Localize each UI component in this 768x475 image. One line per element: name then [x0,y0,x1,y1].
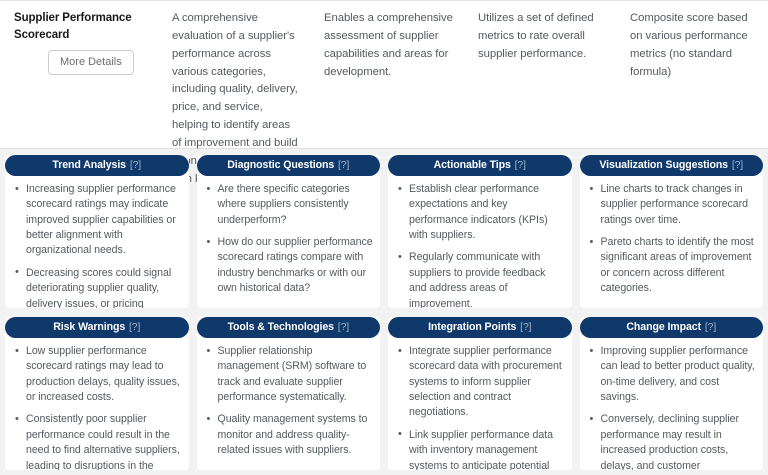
card-body: Supplier relationship management (SRM) s… [197,338,381,459]
list-item: Establish clear performance expectations… [409,182,566,243]
card-header[interactable]: Tools & Technologies [?] [197,317,381,338]
card-title: Trend Analysis [52,159,126,171]
list-item: Line charts to track changes in supplier… [601,182,758,228]
card-header[interactable]: Actionable Tips [?] [388,155,572,176]
list-item: Consistently poor supplier performance c… [26,412,183,470]
card-diagnostic-questions: Diagnostic Questions [?] Are there speci… [197,155,381,308]
card-body: Are there specific categories where supp… [197,176,381,297]
list-item: Conversely, declining supplier performan… [601,412,758,470]
list-item: Are there specific categories where supp… [218,182,375,228]
list-item: Integrate supplier performance scorecard… [409,344,566,421]
summary-formula-text: Composite score based on various perform… [630,10,756,81]
summary-method-column: Utilizes a set of defined metrics to rat… [466,10,618,64]
card-header[interactable]: Diagnostic Questions [?] [197,155,381,176]
card-body: Line charts to track changes in supplier… [580,176,764,297]
card-change-impact: Change Impact [?] Improving supplier per… [580,317,764,470]
help-icon[interactable]: [?] [732,160,743,171]
page-root: Supplier Performance Scorecard More Deta… [0,0,768,475]
card-actionable-tips: Actionable Tips [?] Establish clear perf… [388,155,572,308]
list-item: Low supplier performance scorecard ratin… [26,344,183,405]
card-title: Actionable Tips [434,159,511,171]
card-body: Increasing supplier performance scorecar… [5,176,189,308]
help-icon[interactable]: [?] [129,322,140,333]
card-visualization-suggestions: Visualization Suggestions [?] Line chart… [580,155,764,308]
summary-formula-column: Composite score based on various perform… [618,10,768,81]
summary-section: Supplier Performance Scorecard More Deta… [0,1,768,149]
help-icon[interactable]: [?] [338,160,349,171]
summary-purpose-column: Enables a comprehensive assessment of su… [312,10,466,81]
card-list: Establish clear performance expectations… [392,182,566,308]
help-icon[interactable]: [?] [130,160,141,171]
card-body: Improving supplier performance can lead … [580,338,764,470]
help-icon[interactable]: [?] [705,322,716,333]
card-tools-technologies: Tools & Technologies [?] Supplier relati… [197,317,381,470]
help-icon[interactable]: [?] [338,322,349,333]
card-list: Increasing supplier performance scorecar… [9,182,183,308]
card-list: Supplier relationship management (SRM) s… [201,344,375,459]
card-integration-points: Integration Points [?] Integrate supplie… [388,317,572,470]
card-header[interactable]: Change Impact [?] [580,317,764,338]
card-title: Change Impact [626,321,701,333]
insight-card-grid: Trend Analysis [?] Increasing supplier p… [0,149,768,475]
list-item: Quality management systems to monitor an… [218,412,375,458]
card-body: Integrate supplier performance scorecard… [388,338,572,470]
card-list: Improving supplier performance can lead … [584,344,758,470]
card-title: Visualization Suggestions [599,159,728,171]
help-icon[interactable]: [?] [520,322,531,333]
card-trend-analysis: Trend Analysis [?] Increasing supplier p… [5,155,189,308]
summary-title-column: Supplier Performance Scorecard More Deta… [0,10,160,75]
card-row-2: Risk Warnings [?] Low supplier performan… [5,317,763,470]
card-title: Diagnostic Questions [227,159,334,171]
card-header[interactable]: Visualization Suggestions [?] [580,155,764,176]
card-risk-warnings: Risk Warnings [?] Low supplier performan… [5,317,189,470]
card-header[interactable]: Trend Analysis [?] [5,155,189,176]
card-header[interactable]: Risk Warnings [?] [5,317,189,338]
card-title: Integration Points [428,321,516,333]
card-title: Tools & Technologies [227,321,334,333]
list-item: Regularly communicate with suppliers to … [409,250,566,308]
more-details-button[interactable]: More Details [48,50,134,75]
list-item: Improving supplier performance can lead … [601,344,758,405]
card-list: Low supplier performance scorecard ratin… [9,344,183,470]
card-header[interactable]: Integration Points [?] [388,317,572,338]
list-item: Supplier relationship management (SRM) s… [218,344,375,405]
help-icon[interactable]: [?] [515,160,526,171]
list-item: How do our supplier performance scorecar… [218,235,375,296]
summary-method-text: Utilizes a set of defined metrics to rat… [478,10,606,64]
card-list: Integrate supplier performance scorecard… [392,344,566,470]
card-list: Line charts to track changes in supplier… [584,182,758,297]
card-title: Risk Warnings [53,321,125,333]
list-item: Decreasing scores could signal deteriora… [26,266,183,308]
card-body: Low supplier performance scorecard ratin… [5,338,189,470]
list-item: Link supplier performance data with inve… [409,428,566,470]
card-list: Are there specific categories where supp… [201,182,375,297]
summary-purpose-text: Enables a comprehensive assessment of su… [324,10,454,81]
card-row-1: Trend Analysis [?] Increasing supplier p… [5,155,763,308]
page-title: Supplier Performance Scorecard [14,10,132,43]
list-item: Pareto charts to identify the most signi… [601,235,758,296]
card-body: Establish clear performance expectations… [388,176,572,308]
list-item: Increasing supplier performance scorecar… [26,182,183,259]
